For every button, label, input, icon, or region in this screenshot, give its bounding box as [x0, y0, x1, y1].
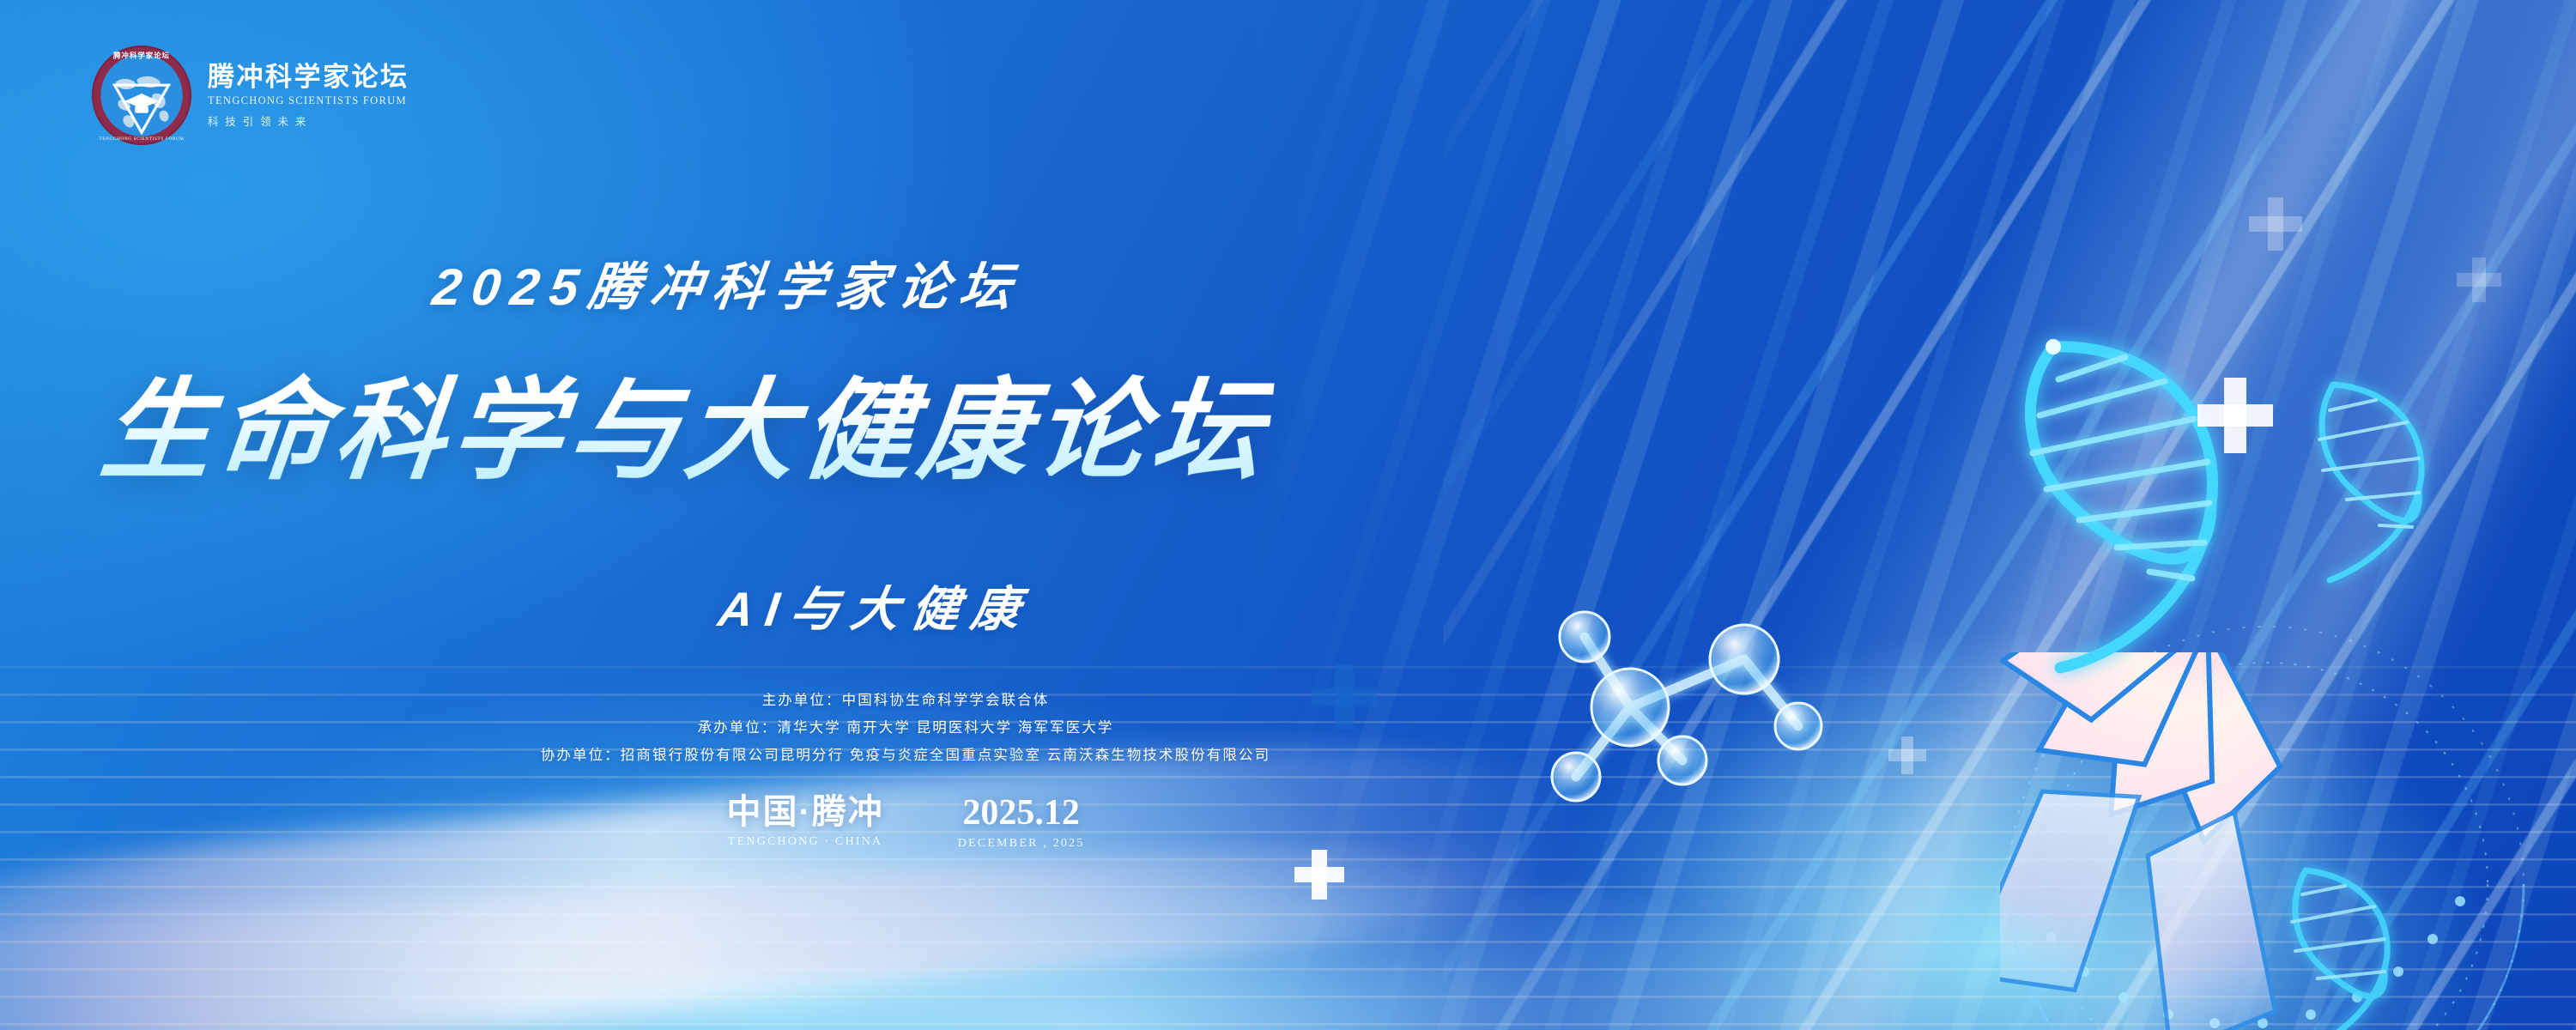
dna-helix-icon [2009, 309, 2292, 704]
brand-name-cn: 腾冲科学家论坛 [208, 64, 409, 92]
date-en: DECEMBER , 2025 [958, 837, 1085, 851]
place-en: TENGCHONG · CHINA [726, 835, 883, 849]
svg-text:TENGCHONG SCIENTISTS FORUM: TENGCHONG SCIENTISTS FORUM [99, 136, 184, 142]
medical-cross-icon [2457, 257, 2501, 302]
svg-text:腾冲科学家论坛: 腾冲科学家论坛 [112, 51, 170, 60]
page-title: 生命科学与大健康论坛 [94, 342, 1278, 500]
medical-cross-icon [1888, 736, 1926, 774]
event-kicker: 2025腾冲科学家论坛 [429, 245, 1027, 320]
medical-cross-icon [1294, 850, 1344, 900]
dna-helix-icon [2309, 369, 2455, 592]
event-place: 中国·腾冲 TENGCHONG · CHINA [726, 793, 883, 849]
tengchong-forum-seal-icon: 腾冲科学家论坛 TENGCHONG SCIENTISTS FORUM [91, 45, 192, 146]
brand-name-en: TENGCHONG SCIENTISTS FORUM [208, 94, 409, 107]
credit-coorganizer: 协办单位：招商银行股份有限公司昆明分行 免疫与炎症全国重点实验室 云南沃森生物技… [0, 742, 1811, 769]
credit-organizer: 承办单位：清华大学 南开大学 昆明医科大学 海军军医大学 [0, 714, 1811, 742]
brand-slogan: 科技引领未来 [208, 113, 409, 129]
medical-cross-icon [2197, 378, 2273, 453]
brand-lockup[interactable]: 腾冲科学家论坛 TENGCHONG SCIENTISTS FORUM 腾冲科学家… [91, 45, 409, 146]
dna-helix-icon [2283, 858, 2421, 1030]
place-cn: 中国·腾冲 [726, 793, 883, 831]
event-date: 2025.12 DECEMBER , 2025 [958, 793, 1085, 851]
credit-host: 主办单位：中国科协生命科学学会联合体 [0, 687, 1811, 714]
event-subtitle: AI与大健康 [714, 571, 1036, 640]
conference-banner: 腾冲科学家论坛 TENGCHONG SCIENTISTS FORUM 腾冲科学家… [0, 0, 2576, 1030]
medical-cross-icon [2249, 197, 2302, 251]
credits-block: 主办单位：中国科协生命科学学会联合体 承办单位：清华大学 南开大学 昆明医科大学… [0, 687, 1811, 770]
date-cn: 2025.12 [958, 793, 1085, 833]
event-meta: 中国·腾冲 TENGCHONG · CHINA 2025.12 DECEMBER… [0, 793, 1811, 851]
